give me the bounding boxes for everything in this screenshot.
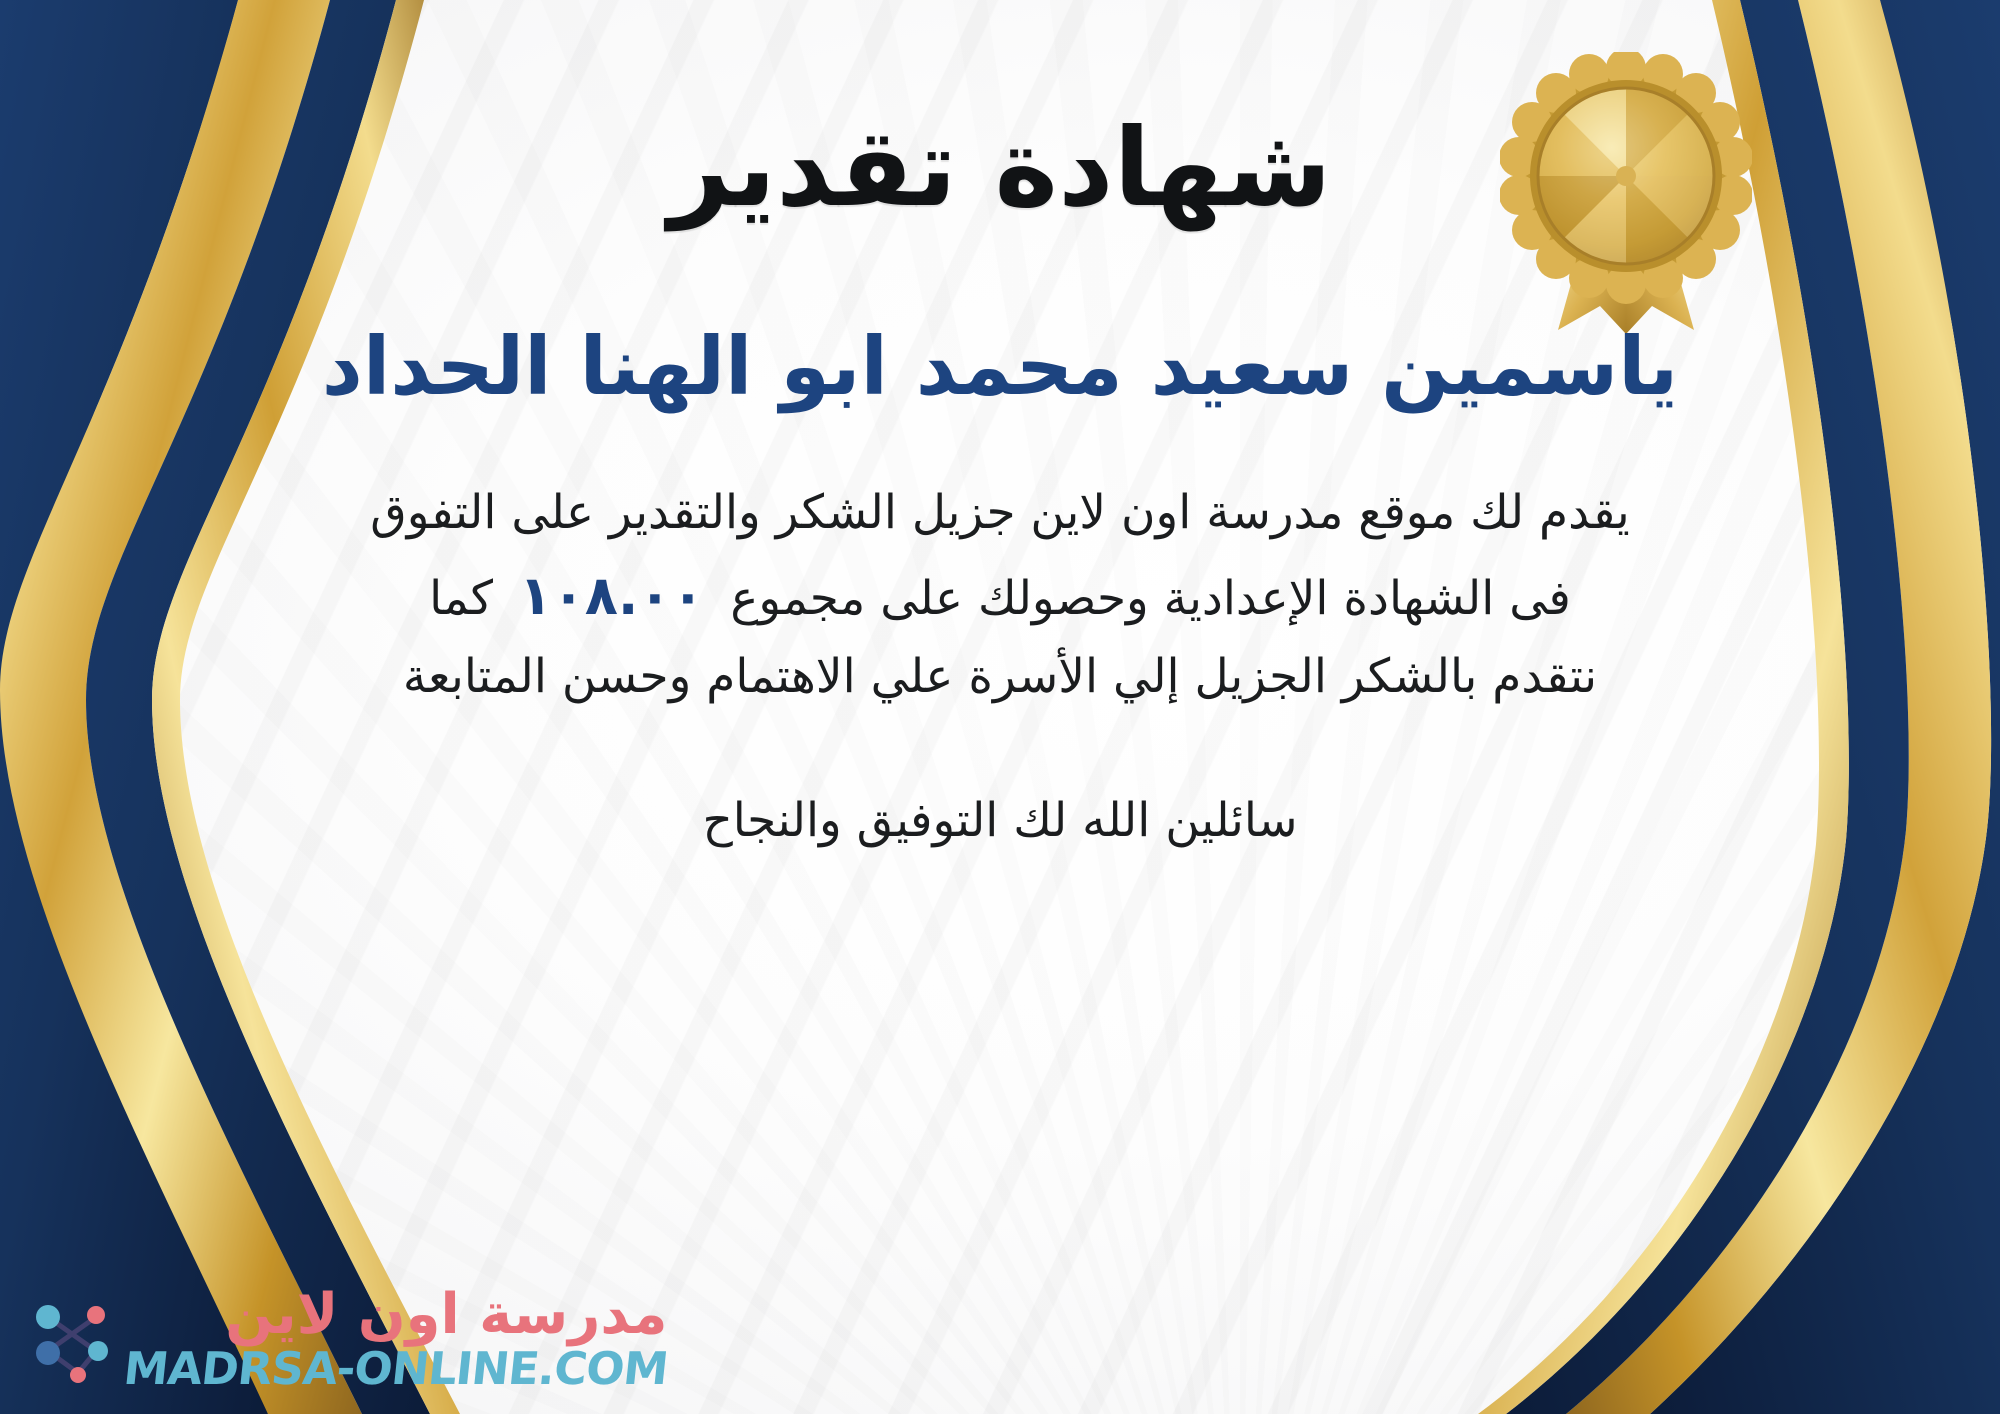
brand-arabic-name: مدرسة اون لاين <box>225 1286 667 1345</box>
body-line-3: نتقدم بالشكر الجزيل إلي الأسرة علي الاهت… <box>300 639 1700 715</box>
brand-website-url: MADRSA-ONLINE.COM <box>122 1345 670 1392</box>
recipient-name: ياسمين سعيد محمد ابو الهنا الحداد <box>322 321 1678 413</box>
body-line-2-suffix: كما <box>429 571 493 626</box>
certificate-body: يقدم لك موقع مدرسة اون لاين جزيل الشكر و… <box>300 475 1700 715</box>
brand-text-block: مدرسة اون لاين MADRSA-ONLINE.COM <box>124 1286 667 1392</box>
body-line-2: فى الشهادة الإعدادية وحصولك على مجموع١٠٨… <box>300 552 1700 639</box>
body-line-1: يقدم لك موقع مدرسة اون لاين جزيل الشكر و… <box>300 475 1700 551</box>
certificate-content: شهادة تقدير ياسمين سعيد محمد ابو الهنا ا… <box>0 0 2000 1414</box>
body-line-2-prefix: فى الشهادة الإعدادية وحصولك على مجموع <box>730 571 1571 626</box>
closing-line: سائلين الله لك التوفيق والنجاح <box>702 793 1297 848</box>
certificate-title: شهادة تقدير <box>668 112 1331 225</box>
total-score-value: ١٠٨.٠٠ <box>493 564 730 627</box>
network-nodes-icon <box>26 1293 118 1385</box>
brand-logo[interactable]: مدرسة اون لاين MADRSA-ONLINE.COM <box>26 1286 667 1392</box>
certificate-canvas: شهادة تقدير ياسمين سعيد محمد ابو الهنا ا… <box>0 0 2000 1414</box>
